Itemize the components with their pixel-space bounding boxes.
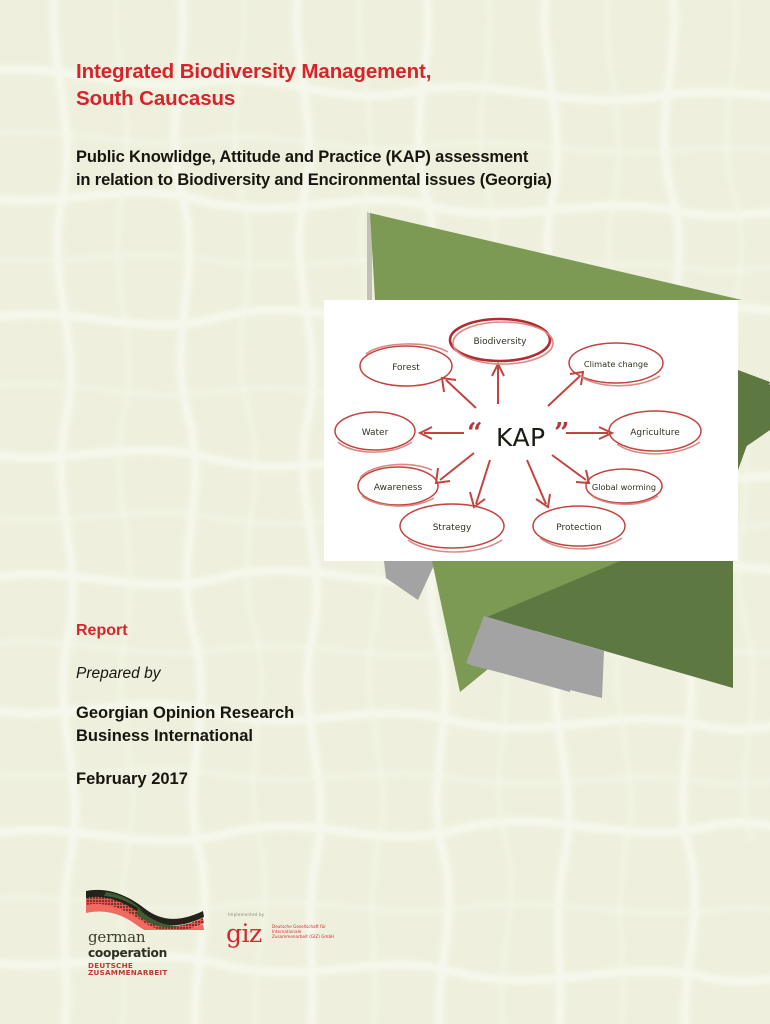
giz-logo: Implemented by giz Deutsche Gesellschaft… — [226, 910, 338, 962]
kap-close-quote: ” — [554, 418, 570, 449]
page-title: Integrated Biodiversity Management, Sout… — [76, 58, 636, 112]
prepared-by-label: Prepared by — [76, 665, 160, 683]
kap-node-strategy: Strategy — [400, 504, 504, 552]
kap-center-label: KAP — [496, 423, 546, 452]
subtitle-line-2: in relation to Biodiversity and Encironm… — [76, 171, 552, 189]
arrow-to-forest — [446, 380, 476, 408]
document-cover-page: Integrated Biodiversity Management, Sout… — [0, 0, 770, 1024]
german-cooperation-line-1: german — [88, 930, 206, 945]
kap-node-agriculture: Agriculture — [609, 411, 701, 454]
arrow-to-global-worming — [552, 455, 586, 480]
title-line-1: Integrated Biodiversity Management, — [76, 60, 431, 83]
kap-node-label: Strategy — [433, 523, 472, 533]
kap-node-water: Water — [335, 412, 415, 452]
kap-node-label: Biodiversity — [473, 337, 527, 347]
kap-node-label: Water — [362, 428, 389, 438]
kap-diagram-svg: “ KAP ” Biodiversity Climate change Agri… — [324, 300, 738, 561]
arrow-to-climate-change — [548, 376, 580, 406]
german-flag-ribbon-icon — [84, 888, 206, 930]
kap-node-label: Climate change — [584, 359, 648, 369]
kap-node-climate-change: Climate change — [569, 343, 663, 386]
kap-node-awareness: Awareness — [358, 464, 438, 506]
kap-node-forest: Forest — [360, 344, 452, 386]
kap-concept-diagram: “ KAP ” Biodiversity Climate change Agri… — [324, 300, 738, 561]
german-cooperation-line-3: DEUTSCHE ZUSAMMENARBEIT — [88, 962, 206, 976]
page-subtitle: Public Knowlidge, Attitude and Practice … — [76, 146, 676, 192]
report-label: Report — [76, 622, 128, 640]
giz-full-name: Deutsche Gesellschaft für Internationale… — [272, 924, 338, 939]
organization-line-1: Georgian Opinion Research — [76, 704, 294, 722]
organization-name: Georgian Opinion Research Business Inter… — [76, 702, 496, 747]
kap-open-quote: “ — [467, 418, 483, 449]
arrow-head-forest — [442, 378, 456, 392]
arrow-to-protection — [527, 460, 546, 504]
kap-node-global-worming: Global worming — [586, 469, 662, 504]
title-line-2: South Caucasus — [76, 87, 235, 110]
publication-date: February 2017 — [76, 770, 188, 789]
kap-node-label: Protection — [556, 523, 602, 533]
german-cooperation-line-2: cooperation — [88, 947, 206, 959]
giz-implemented-by-label: Implemented by — [228, 912, 264, 917]
giz-wordmark: giz — [226, 921, 262, 946]
kap-node-biodiversity: Biodiversity — [450, 319, 553, 364]
arrow-to-awareness — [440, 453, 474, 480]
arrow-to-strategy — [476, 460, 490, 504]
kap-node-label: Global worming — [592, 482, 656, 492]
arrow-head-awareness — [436, 468, 450, 483]
kap-node-label: Forest — [392, 363, 420, 373]
german-cooperation-wordmark: german cooperation DEUTSCHE ZUSAMMENARBE… — [88, 930, 206, 977]
kap-node-label: Agriculture — [630, 428, 680, 438]
subtitle-line-1: Public Knowlidge, Attitude and Practice … — [76, 148, 528, 166]
kap-node-protection: Protection — [533, 506, 625, 549]
organization-line-2: Business International — [76, 727, 253, 745]
kap-node-label: Awareness — [374, 483, 423, 493]
logo-row: german cooperation DEUTSCHE ZUSAMMENARBE… — [84, 888, 338, 968]
german-cooperation-logo: german cooperation DEUTSCHE ZUSAMMENARBE… — [84, 888, 206, 968]
